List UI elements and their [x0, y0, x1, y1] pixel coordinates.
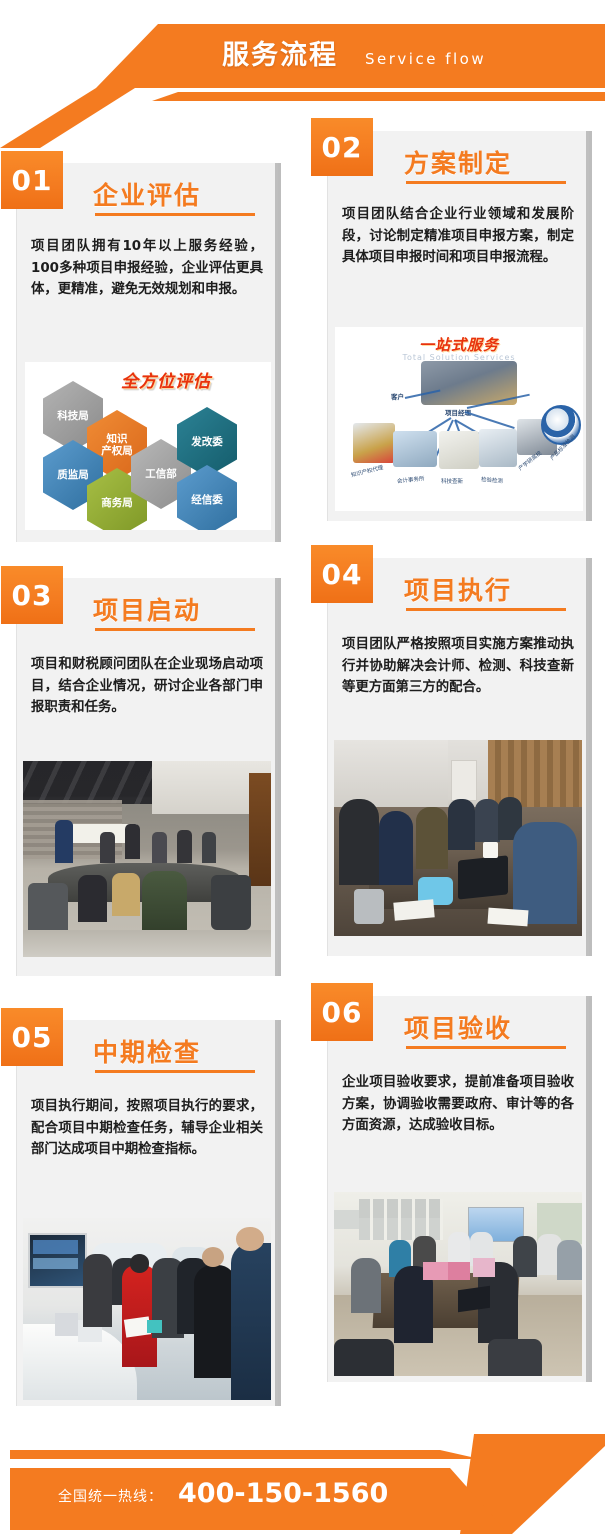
- node-label-testing: 检验检测: [481, 475, 504, 485]
- card-body-02: 项目团队结合企业行业领域和发展阶段，讨论制定精准项目申报方案，制定具体项目申报时…: [342, 204, 574, 269]
- step-card-06: 项目验收 企业项目验收要求，提前准备项目验收方案，协调验收需要政府、审计等的各方…: [327, 996, 589, 1382]
- service-flow-poster: 服务流程 Service flow 企业评估 项目团队拥有10年以上服务经验，1…: [0, 0, 605, 1538]
- card-body-01: 项目团队拥有10年以上服务经验，100多种项目申报经验，企业评估更具体，更精准，…: [31, 236, 263, 301]
- step-number-badge-01: 01: [1, 151, 63, 209]
- card-title-06: 项目验收: [404, 1009, 512, 1045]
- page-footer: 全国统一热线： 400-150-1560: [0, 1408, 605, 1538]
- node-photo-ip: [353, 423, 395, 463]
- figure-hexagon-diagram: 全方位评估 科技局 知识 产权局 质监局 商务局 工信部 发改委 经信委: [25, 362, 271, 530]
- node-photo-testing: [479, 429, 517, 467]
- one-stop-client-label: 客户: [391, 391, 404, 401]
- node-label-ip: 知识产权代理: [350, 463, 384, 479]
- node-label-accounting: 会计事务所: [397, 474, 425, 485]
- figure-one-stop-service: 一站式服务 Total Solution Services 客户 项目经理 知识…: [335, 327, 583, 511]
- card-title-03: 项目启动: [93, 591, 201, 627]
- hotline-number[interactable]: 400-150-1560: [178, 1478, 388, 1509]
- step-number-badge-02: 02: [311, 118, 373, 176]
- card-title-04: 项目执行: [404, 571, 512, 607]
- page-title: 服务流程: [222, 33, 338, 79]
- step-number-badge-04: 04: [311, 545, 373, 603]
- photo-site-inspection: [23, 1218, 271, 1400]
- hotline-label: 全国统一热线：: [58, 1486, 163, 1506]
- step-number-badge-06: 06: [311, 983, 373, 1041]
- hexagon-diagram-heading: 全方位评估: [121, 367, 211, 392]
- card-body-04: 项目团队严格按照项目实施方案推动执行并协助解决会计师、检测、科技查新等更方面第三…: [342, 634, 574, 699]
- step-card-03: 项目启动 项目和财税顾问团队在企业现场启动项目，结合企业情况，研讨企业各部门申报…: [16, 578, 278, 976]
- card-title-01: 企业评估: [93, 176, 201, 212]
- photo-acceptance-review: [334, 1192, 582, 1376]
- arrow-6: [465, 411, 515, 429]
- title-rule-03: [95, 628, 255, 631]
- title-rule-06: [406, 1046, 566, 1049]
- step-card-02: 方案制定 项目团队结合企业行业领域和发展阶段，讨论制定精准项目申报方案，制定具体…: [327, 131, 589, 521]
- step-number-badge-03: 03: [1, 566, 63, 624]
- photo-kickoff-meeting: [23, 761, 271, 957]
- card-body-05: 项目执行期间，按照项目执行的要求，配合项目中期检查任务，辅导企业相关部门达成项目…: [31, 1096, 263, 1161]
- step-card-01: 企业评估 项目团队拥有10年以上服务经验，100多种项目申报经验，企业评估更具体…: [16, 163, 278, 542]
- photo-execution-meeting: [334, 740, 582, 936]
- card-body-06: 企业项目验收要求，提前准备项目验收方案，协调验收需要政府、审计等的各方面资源，达…: [342, 1072, 574, 1137]
- card-body-03: 项目和财税顾问团队在企业现场启动项目，结合企业情况，研讨企业各部门申报职责和任务…: [31, 654, 263, 719]
- figure-photo-03: [23, 761, 271, 957]
- page-header: 服务流程 Service flow: [0, 0, 605, 118]
- card-title-05: 中期检查: [93, 1033, 201, 1069]
- figure-photo-04: [334, 740, 582, 936]
- one-stop-service-heading: 一站式服务: [335, 334, 583, 355]
- title-rule-02: [406, 181, 566, 184]
- title-rule-01: [95, 213, 255, 216]
- card-title-02: 方案制定: [404, 144, 512, 180]
- page-subtitle: Service flow: [365, 43, 486, 75]
- figure-photo-05: [23, 1218, 271, 1400]
- step-number-badge-05: 05: [1, 1008, 63, 1066]
- node-label-search: 科技查新: [441, 477, 463, 485]
- title-rule-04: [406, 608, 566, 611]
- title-rule-05: [95, 1070, 255, 1073]
- node-photo-accounting: [393, 431, 437, 467]
- step-card-05: 中期检查 项目执行期间，按照项目执行的要求，配合项目中期检查任务，辅导企业相关部…: [16, 1020, 278, 1406]
- figure-photo-06: [334, 1192, 582, 1376]
- step-card-04: 项目执行 项目团队严格按照项目实施方案推动执行并协助解决会计师、检测、科技查新等…: [327, 558, 589, 956]
- node-photo-search: [439, 431, 479, 469]
